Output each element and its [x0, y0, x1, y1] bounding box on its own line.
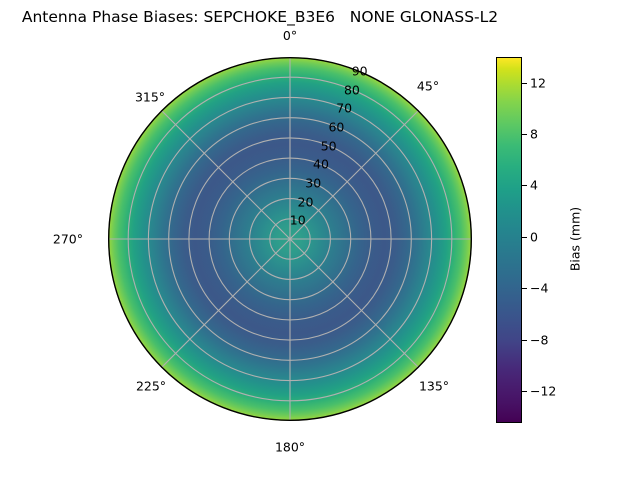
- colorbar-tick-mark-1: [522, 340, 527, 341]
- colorbar-tick-label-0: −12: [530, 383, 556, 398]
- radial-tick-40: 40: [313, 157, 329, 172]
- figure-canvas: Antenna Phase Biases: SEPCHOKE_B3E6 NONE…: [0, 0, 640, 480]
- angular-tick-225: 225°: [136, 379, 166, 394]
- radial-tick-20: 20: [298, 194, 314, 209]
- angular-tick-135: 135°: [419, 379, 449, 394]
- angular-tick-0: 0°: [283, 28, 297, 43]
- radial-tick-90: 90: [352, 63, 368, 78]
- colorbar-tick-mark-2: [522, 288, 527, 289]
- angular-gridlines: [108, 57, 472, 421]
- colorbar-tick-mark-3: [522, 237, 527, 238]
- colorbar-tick-label-3: 0: [530, 229, 538, 244]
- colorbar[interactable]: −12−8−404812: [496, 57, 522, 423]
- polar-plot-svg: [108, 57, 472, 421]
- radial-tick-30: 30: [305, 175, 321, 190]
- colorbar-tick-mark-6: [522, 83, 527, 84]
- radial-tick-50: 50: [321, 138, 337, 153]
- colorbar-tick-label-1: −8: [530, 332, 548, 347]
- colorbar-axis-label: Bias (mm): [568, 207, 583, 271]
- radial-tick-60: 60: [328, 119, 344, 134]
- colorbar-gradient: [496, 57, 522, 423]
- colorbar-tick-label-4: 4: [530, 178, 538, 193]
- angular-tick-45: 45°: [417, 79, 439, 94]
- angular-tick-270: 270°: [53, 232, 83, 247]
- colorbar-tick-label-2: −4: [530, 281, 548, 296]
- polar-axes[interactable]: [108, 57, 472, 421]
- colorbar-tick-mark-0: [522, 391, 527, 392]
- angular-tick-315: 315°: [135, 90, 165, 105]
- colorbar-tick-label-6: 12: [530, 75, 546, 90]
- radial-tick-80: 80: [344, 82, 360, 97]
- colorbar-tick-mark-4: [522, 185, 527, 186]
- radial-tick-70: 70: [336, 101, 352, 116]
- angular-tick-180: 180°: [275, 440, 305, 455]
- page-title: Antenna Phase Biases: SEPCHOKE_B3E6 NONE…: [0, 8, 520, 26]
- colorbar-tick-mark-5: [522, 134, 527, 135]
- colorbar-tick-label-5: 8: [530, 127, 538, 142]
- radial-tick-10: 10: [290, 213, 306, 228]
